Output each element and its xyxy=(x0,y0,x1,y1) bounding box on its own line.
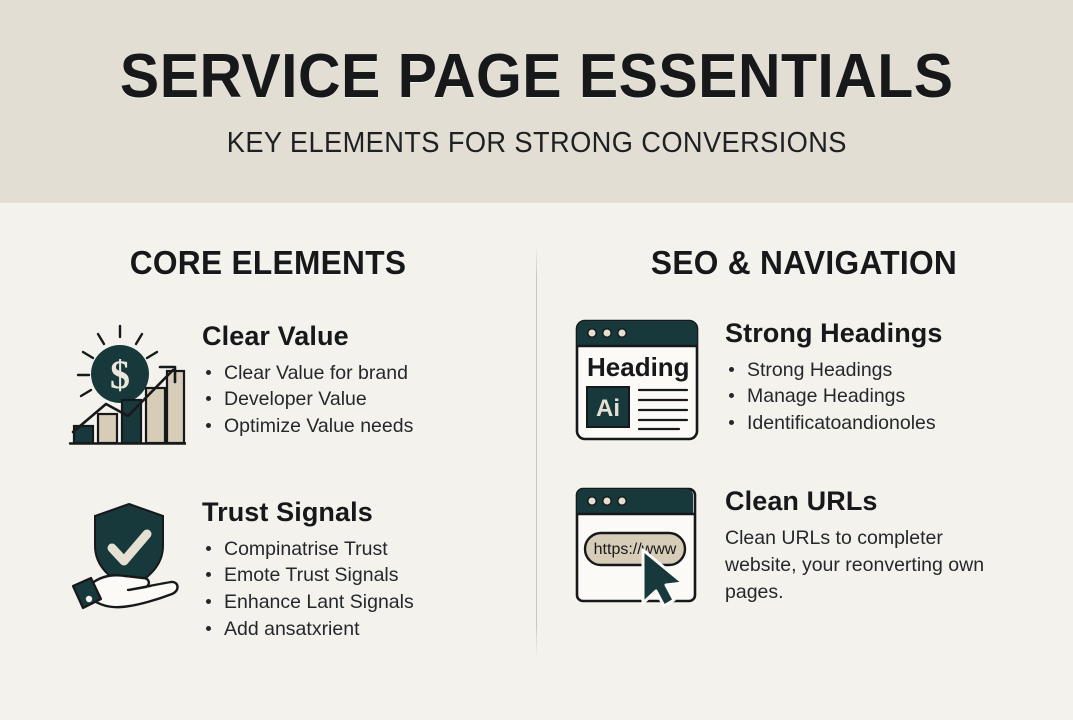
icon-url-text: https://www xyxy=(594,541,677,558)
header-band: SERVICE PAGE ESSENTIALS KEY ELEMENTS FOR… xyxy=(0,0,1073,203)
list-item: Manage Headings xyxy=(725,383,943,410)
icon-heading-text: Heading xyxy=(587,352,690,382)
list-item: Compinatrise Trust xyxy=(202,536,414,563)
icon-badge-text: Ai xyxy=(596,395,620,422)
block-strong-headings: Heading Ai Strong Headings xyxy=(536,319,1072,441)
list-item: Add ansatxrient xyxy=(202,616,414,643)
block-clear-value: $ xyxy=(0,322,536,446)
column-seo-navigation: SEO & NAVIGATION Heading Ai xyxy=(536,203,1072,720)
list-item: Clear Value for brand xyxy=(202,360,413,387)
content-columns: CORE ELEMENTS xyxy=(0,203,1073,720)
column-title-core-elements: CORE ELEMENTS xyxy=(11,246,526,279)
block-body-clear-value: Clear Value Clear Value for brand Develo… xyxy=(192,322,413,440)
block-clean-urls: https://www Clean URLs Clean URLs to com… xyxy=(536,487,1072,607)
block-heading-strong-headings: Strong Headings xyxy=(725,319,943,349)
block-body-trust-signals: Trust Signals Compinatrise Trust Emote T… xyxy=(192,498,414,643)
list-item: Emote Trust Signals xyxy=(202,562,414,589)
shield-check-hand-icon xyxy=(62,498,192,614)
block-heading-clean-urls: Clean URLs xyxy=(725,487,993,517)
infographic-poster: SERVICE PAGE ESSENTIALS KEY ELEMENTS FOR… xyxy=(0,0,1073,720)
list-item: Optimize Value needs xyxy=(202,413,413,440)
bullet-list-clear-value: Clear Value for brand Developer Value Op… xyxy=(202,360,413,440)
bullet-list-strong-headings: Strong Headings Manage Headings Identifi… xyxy=(725,357,943,437)
list-item: Developer Value xyxy=(202,386,413,413)
block-heading-clear-value: Clear Value xyxy=(202,322,413,352)
block-body-strong-headings: Strong Headings Strong Headings Manage H… xyxy=(705,319,943,437)
page-title: SERVICE PAGE ESSENTIALS xyxy=(120,46,954,108)
block-heading-trust-signals: Trust Signals xyxy=(202,498,414,528)
block-body-clean-urls: Clean URLs Clean URLs to completer websi… xyxy=(705,487,993,605)
browser-heading-icon: Heading Ai xyxy=(569,319,705,441)
list-item: Enhance Lant Signals xyxy=(202,589,414,616)
list-item: Strong Headings xyxy=(725,357,943,384)
list-item: Identificatoandionoles xyxy=(725,410,943,437)
svg-text:$: $ xyxy=(110,352,130,397)
block-paragraph-clean-urls: Clean URLs to completer website, your re… xyxy=(725,525,993,606)
column-title-seo-navigation: SEO & NAVIGATION xyxy=(547,246,1062,279)
column-core-elements: CORE ELEMENTS xyxy=(0,203,536,720)
growth-chart-dollar-icon: $ xyxy=(62,322,192,446)
page-subtitle: KEY ELEMENTS FOR STRONG CONVERSIONS xyxy=(226,129,846,158)
browser-url-cursor-icon: https://www xyxy=(569,487,705,607)
block-trust-signals: Trust Signals Compinatrise Trust Emote T… xyxy=(0,498,536,643)
bullet-list-trust-signals: Compinatrise Trust Emote Trust Signals E… xyxy=(202,536,414,643)
